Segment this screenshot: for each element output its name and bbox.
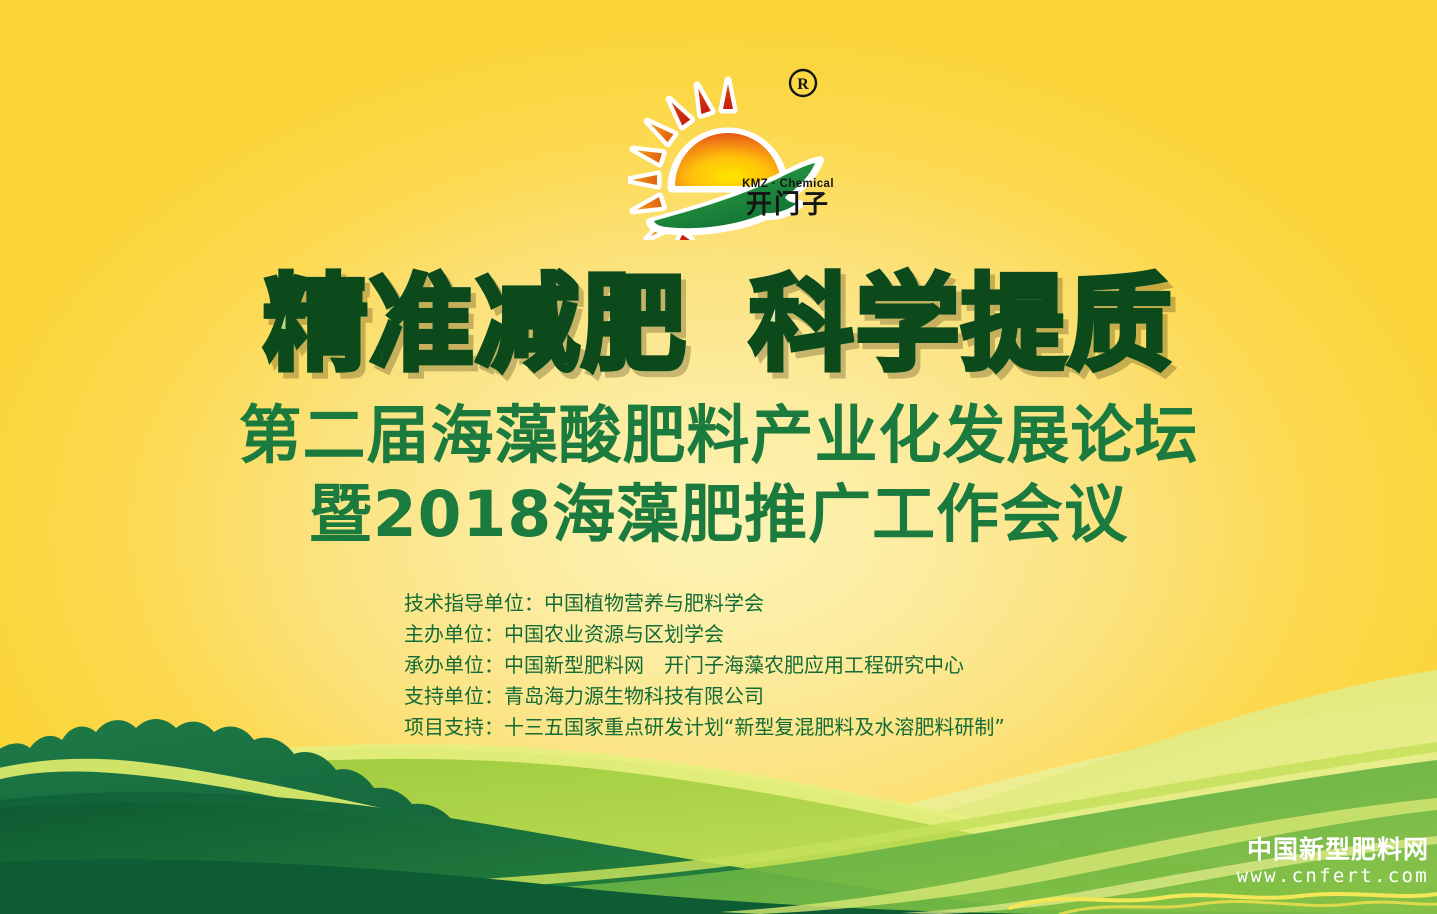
credit-line-project-support: 项目支持：十三五国家重点研发计划“新型复混肥料及水溶肥料研制”	[404, 712, 1005, 743]
credit-line-organizer: 主办单位：中国农业资源与区划学会	[404, 619, 1005, 650]
credit-line-undertaker: 承办单位：中国新型肥料网 开门子海藻农肥应用工程研究中心	[404, 650, 1005, 681]
registered-trademark-icon: R	[790, 70, 816, 96]
watermark-url: www.cnfert.com	[1237, 867, 1429, 886]
brand-logo: R KMZ · Chemical 开门子	[628, 62, 828, 240]
page-title: 精准减肥科学提质	[0, 272, 1437, 376]
logo-brand-chinese: 开门子	[742, 192, 834, 218]
watermark-site-name: 中国新型肥料网	[1237, 837, 1429, 862]
credits-block: 技术指导单位：中国植物营养与肥料学会 主办单位：中国农业资源与区划学会 承办单位…	[404, 588, 1005, 743]
subtitle-line-1: 第二届海藻酸肥料产业化发展论坛	[0, 404, 1437, 467]
logo-kmz-text: KMZ · Chemical	[742, 179, 834, 191]
watermark: 中国新型肥料网 www.cnfert.com	[1237, 837, 1429, 886]
headline-part-2: 科学提质	[750, 272, 1174, 376]
svg-text:R: R	[797, 76, 809, 93]
subtitle-line-2: 暨2018海藻肥推广工作会议	[0, 483, 1437, 546]
logo-wordmark: KMZ · Chemical 开门子	[742, 179, 834, 218]
credit-line-supporter: 支持单位：青岛海力源生物科技有限公司	[404, 681, 1005, 712]
poster-canvas: R KMZ · Chemical 开门子 精准减肥科学提质 第二届海藻酸肥料产业…	[0, 0, 1437, 914]
headline-part-1: 精准减肥	[263, 272, 687, 376]
credit-line-technical-guidance: 技术指导单位：中国植物营养与肥料学会	[404, 588, 1005, 619]
